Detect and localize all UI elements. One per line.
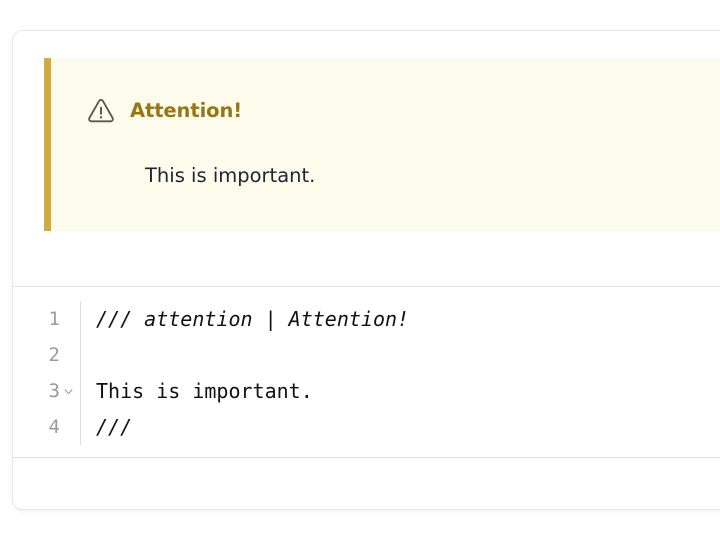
code-editor-inner: 1 2 3 4 <box>13 301 720 445</box>
admonition-title: Attention! <box>130 101 242 121</box>
admonition-attention: Attention! This is important. <box>44 58 720 231</box>
preview-pane: Attention! This is important. <box>13 31 720 287</box>
gutter-row: 4 <box>13 409 80 445</box>
admonition-title-row: Attention! <box>86 96 242 126</box>
code-line[interactable]: /// <box>96 409 720 445</box>
gutter-row: 2 <box>13 337 80 373</box>
code-editor-pane[interactable]: 1 2 3 4 <box>13 287 720 458</box>
card-footer <box>13 458 720 509</box>
chevron-down-icon[interactable] <box>63 386 74 397</box>
gutter-row: 3 <box>13 373 80 409</box>
line-number: 4 <box>46 409 60 445</box>
line-number: 2 <box>46 337 60 373</box>
line-number-gutter: 1 2 3 4 <box>13 301 81 445</box>
warning-triangle-icon <box>86 96 116 126</box>
fold-slot[interactable] <box>60 386 76 397</box>
line-number: 3 <box>46 373 60 409</box>
line-number: 1 <box>46 301 60 337</box>
preview-code-card: Attention! This is important. 1 2 3 <box>12 30 720 510</box>
code-line[interactable] <box>96 337 720 373</box>
code-line[interactable]: This is important. <box>96 373 720 409</box>
code-line[interactable]: /// attention | Attention! <box>96 301 720 337</box>
code-lines[interactable]: /// attention | Attention! This is impor… <box>81 301 720 445</box>
admonition-body: This is important. <box>145 163 315 188</box>
gutter-row: 1 <box>13 301 80 337</box>
